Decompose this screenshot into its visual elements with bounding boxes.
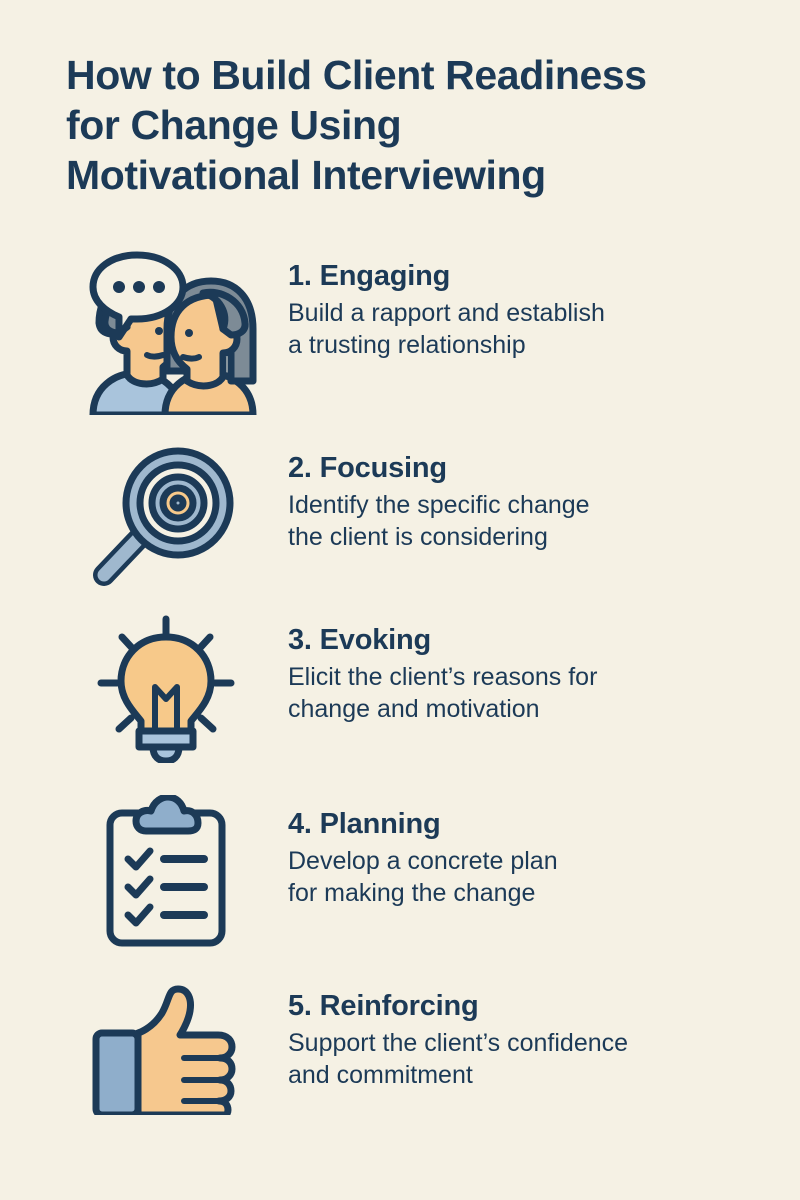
step-text: 5. Reinforcing Support the client’s conf… (266, 979, 800, 1091)
list-item: 3. Evoking Elicit the client’s reasons f… (0, 611, 800, 791)
step-description: Support the client’s confidence and comm… (288, 1027, 800, 1091)
step-heading: 2. Focusing (288, 451, 800, 485)
step-text: 2. Focusing Identify the specific change… (266, 439, 800, 553)
magnifying-glass-target-icon (66, 439, 266, 593)
step-text: 4. Planning Develop a concrete plan for … (266, 791, 800, 909)
step-description: Identify the specific change the client … (288, 489, 800, 553)
clipboard-checklist-icon (66, 791, 266, 947)
step-heading: 5. Reinforcing (288, 989, 800, 1023)
list-item: 2. Focusing Identify the specific change… (0, 439, 800, 611)
step-heading: 4. Planning (288, 807, 800, 841)
title-line-3: Motivational Interviewing (66, 150, 746, 200)
lightbulb-icon (66, 611, 266, 763)
infographic-poster: How to Build Client Readiness for Change… (0, 0, 800, 1200)
step-heading: 1. Engaging (288, 259, 800, 293)
thumbs-up-icon (66, 979, 266, 1115)
list-item: 1. Engaging Build a rapport and establis… (0, 243, 800, 439)
step-description: Develop a concrete plan for making the c… (288, 845, 800, 909)
page-title: How to Build Client Readiness for Change… (66, 50, 746, 200)
step-text: 3. Evoking Elicit the client’s reasons f… (266, 611, 800, 725)
list-item: 4. Planning Develop a concrete plan for … (0, 791, 800, 979)
step-description: Elicit the client’s reasons for change a… (288, 661, 800, 725)
steps-list: 1. Engaging Build a rapport and establis… (0, 243, 800, 1149)
step-description: Build a rapport and establish a trusting… (288, 297, 800, 361)
title-line-1: How to Build Client Readiness (66, 50, 746, 100)
list-item: 5. Reinforcing Support the client’s conf… (0, 979, 800, 1149)
step-text: 1. Engaging Build a rapport and establis… (266, 243, 800, 361)
two-people-conversation-icon (66, 243, 266, 415)
step-heading: 3. Evoking (288, 623, 800, 657)
title-line-2: for Change Using (66, 100, 746, 150)
